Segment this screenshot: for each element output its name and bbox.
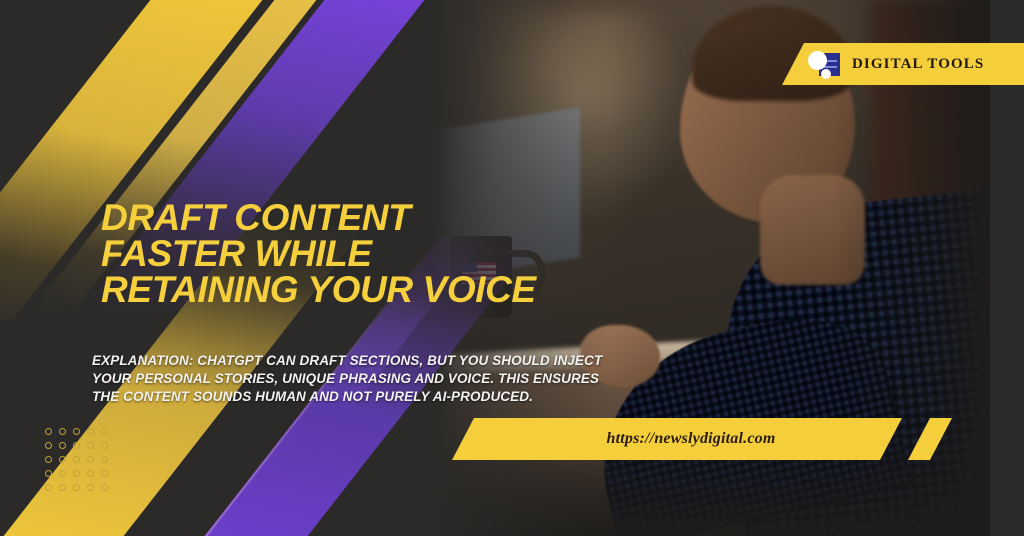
document-circle-logo-icon	[808, 48, 842, 80]
body-line-1: EXPLANATION: CHATGPT CAN DRAFT SECTIONS,…	[92, 352, 692, 370]
headline-line-3: RETAINING YOUR VOICE	[101, 272, 721, 308]
badge-label: DIGITAL TOOLS	[852, 56, 984, 73]
url-banner[interactable]: https://newslydigital.com	[452, 418, 902, 460]
dot	[59, 484, 66, 491]
logo-circle-shape	[808, 51, 827, 70]
dot	[101, 456, 108, 463]
dot	[73, 484, 80, 491]
website-url[interactable]: https://newslydigital.com	[606, 430, 775, 448]
dot	[45, 470, 52, 477]
body-line-3: THE CONTENT SOUNDS HUMAN AND NOT PURELY …	[92, 388, 692, 406]
dot	[45, 428, 52, 435]
dot	[45, 484, 52, 491]
dot	[87, 428, 94, 435]
headline-line-1: DRAFT CONTENT	[101, 200, 721, 236]
dot	[87, 470, 94, 477]
dot	[73, 428, 80, 435]
dot	[59, 456, 66, 463]
dot	[101, 484, 108, 491]
headline-line-2: FASTER WHILE	[101, 236, 721, 272]
social-graphic-canvas: DIGITAL TOOLS DRAFT CONTENT FASTER WHILE…	[0, 0, 1024, 536]
logo-dot-shape	[821, 69, 831, 79]
body-copy: EXPLANATION: CHATGPT CAN DRAFT SECTIONS,…	[92, 352, 692, 406]
dot	[73, 470, 80, 477]
dot	[73, 456, 80, 463]
headline: DRAFT CONTENT FASTER WHILE RETAINING YOU…	[101, 200, 721, 308]
dot	[59, 428, 66, 435]
body-line-2: YOUR PERSONAL STORIES, UNIQUE PHRASING A…	[92, 370, 692, 388]
dot	[59, 442, 66, 449]
dot	[87, 456, 94, 463]
dot	[59, 470, 66, 477]
dot	[45, 456, 52, 463]
digital-tools-badge[interactable]: DIGITAL TOOLS	[782, 43, 1024, 85]
dot	[87, 442, 94, 449]
dot	[73, 442, 80, 449]
dot	[45, 442, 52, 449]
dot-grid-decoration	[45, 428, 112, 495]
dot	[87, 484, 94, 491]
dot	[101, 428, 108, 435]
dot	[101, 470, 108, 477]
dot	[101, 442, 108, 449]
